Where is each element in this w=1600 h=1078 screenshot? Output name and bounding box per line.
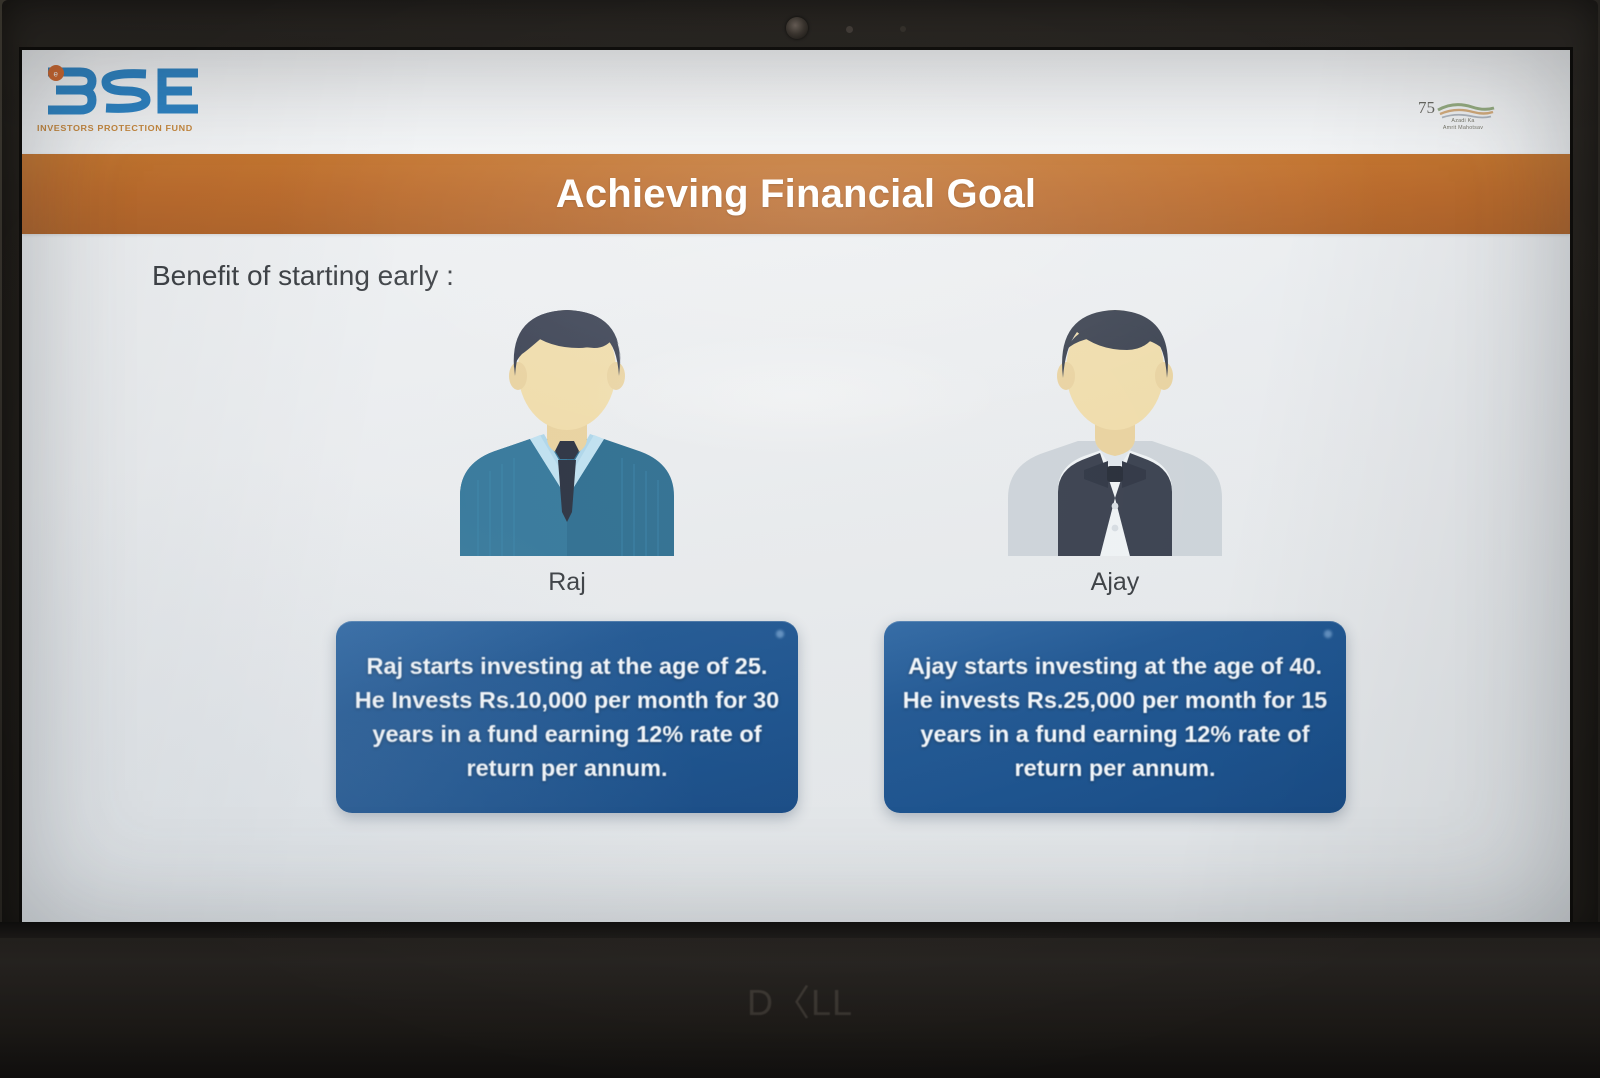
- avatar-man-suit-tie-icon: [452, 284, 682, 556]
- person-column-raj: Raj Raj starts investing at the age of 2…: [332, 234, 802, 813]
- webcam-indicator-icon: [846, 26, 853, 33]
- slide-header: e INVESTORS PROTECTION FUND 75 Azadi KaA…: [22, 50, 1570, 154]
- bse-logo-subtext: INVESTORS PROTECTION FUND: [37, 123, 193, 132]
- person-name-raj: Raj: [332, 568, 802, 597]
- dell-brand-label: D〈LL: [705, 974, 895, 1026]
- dell-brand-logo: D〈LL: [705, 974, 895, 1024]
- info-card-raj: Raj starts investing at the age of 25. H…: [336, 621, 798, 813]
- info-text-raj: Raj starts investing at the age of 25. H…: [352, 649, 782, 785]
- laptop-hinge: [0, 922, 1600, 938]
- person-name-ajay: Ajay: [880, 568, 1350, 597]
- presentation-slide: e INVESTORS PROTECTION FUND 75 Azadi KaA…: [22, 50, 1570, 922]
- amrit-logo-caption: Azadi KaAmrit Mahotsav: [1420, 118, 1506, 131]
- avatar-man-vest-bowtie-icon: [1000, 284, 1230, 556]
- laptop-base: D〈LL: [0, 922, 1600, 1078]
- slide-title-band: Achieving Financial Goal: [22, 154, 1570, 234]
- laptop-screen: e INVESTORS PROTECTION FUND 75 Azadi KaA…: [22, 50, 1570, 922]
- info-text-ajay: Ajay starts investing at the age of 40. …: [900, 649, 1330, 785]
- info-card-ajay: Ajay starts investing at the age of 40. …: [884, 621, 1346, 813]
- page-title: Achieving Financial Goal: [556, 172, 1036, 217]
- person-column-ajay: Ajay Ajay starts investing at the age of…: [880, 234, 1350, 813]
- svg-text:e: e: [54, 70, 59, 79]
- slide-body: Benefit of starting early :: [22, 234, 1570, 922]
- azadi-ka-amrit-mahotsav-logo: 75 Azadi KaAmrit Mahotsav: [1412, 96, 1516, 140]
- bse-logo: e INVESTORS PROTECTION FUND: [34, 60, 204, 146]
- laptop-photo: e INVESTORS PROTECTION FUND 75 Azadi KaA…: [0, 0, 1600, 1078]
- dell-laptop: e INVESTORS PROTECTION FUND 75 Azadi KaA…: [0, 0, 1600, 1078]
- webcam-icon: [786, 17, 808, 39]
- webcam-mic-icon: [900, 26, 906, 32]
- svg-text:75: 75: [1418, 98, 1435, 117]
